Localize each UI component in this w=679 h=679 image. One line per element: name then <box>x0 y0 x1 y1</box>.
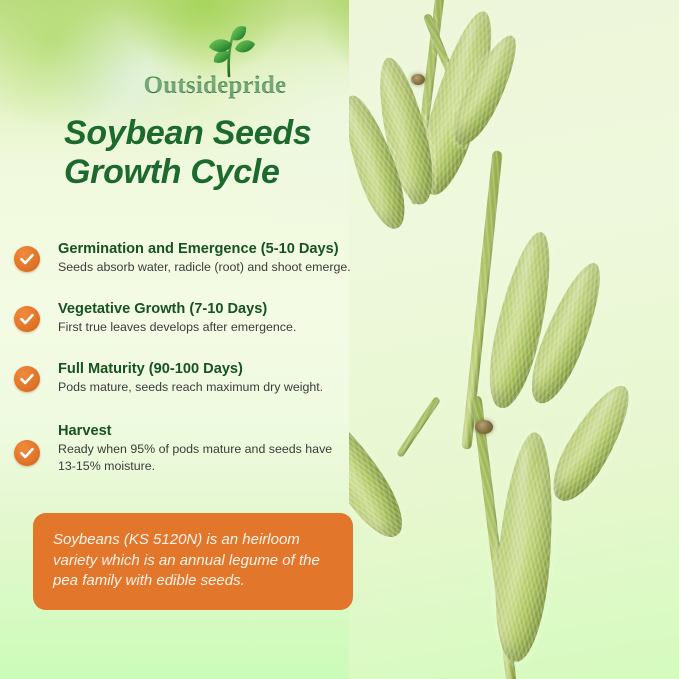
page-title: Soybean Seeds Growth Cycle <box>64 114 394 193</box>
step-description: Pods mature, seeds reach maximum dry wei… <box>58 379 394 396</box>
step-title: Germination and Emergence (5-10 Days) <box>58 240 394 258</box>
step-title: Vegetative Growth (7-10 Days) <box>58 300 394 318</box>
list-item: Vegetative Growth (7-10 Days) First true… <box>14 300 394 346</box>
list-item: Germination and Emergence (5-10 Days) Se… <box>14 240 394 286</box>
check-circle-icon <box>14 440 40 466</box>
page-title-line-2: Growth Cycle <box>64 153 394 192</box>
growth-cycle-list: Germination and Emergence (5-10 Days) Se… <box>14 240 394 488</box>
step-description: Seeds absorb water, radicle (root) and s… <box>58 259 394 276</box>
pod-stem <box>396 396 441 458</box>
list-item: Harvest Ready when 95% of pods mature an… <box>14 422 394 474</box>
page-title-line-1: Soybean Seeds <box>64 114 394 153</box>
check-circle-icon <box>14 246 40 272</box>
pod-node <box>475 420 493 434</box>
step-description: First true leaves develops after emergen… <box>58 319 394 336</box>
soybean-pods-photo <box>349 0 679 679</box>
infographic-poster: Outsidepride Soybean Seeds Growth Cycle … <box>0 0 679 679</box>
check-circle-icon <box>14 306 40 332</box>
soybean-pod <box>489 430 561 664</box>
step-title: Harvest <box>58 422 394 440</box>
step-description: Ready when 95% of pods mature and seeds … <box>58 441 350 474</box>
sprout-leaves-icon <box>192 26 262 78</box>
step-title: Full Maturity (90-100 Days) <box>58 360 394 378</box>
callout-box: Soybeans (KS 5120N) is an heirloom varie… <box>33 513 353 610</box>
brand-name: Outsidepride <box>140 72 290 100</box>
callout-text: Soybeans (KS 5120N) is an heirloom varie… <box>53 530 333 592</box>
list-item: Full Maturity (90-100 Days) Pods mature,… <box>14 360 394 406</box>
check-circle-icon <box>14 366 40 392</box>
brand-logo[interactable]: Outsidepride <box>140 26 290 102</box>
